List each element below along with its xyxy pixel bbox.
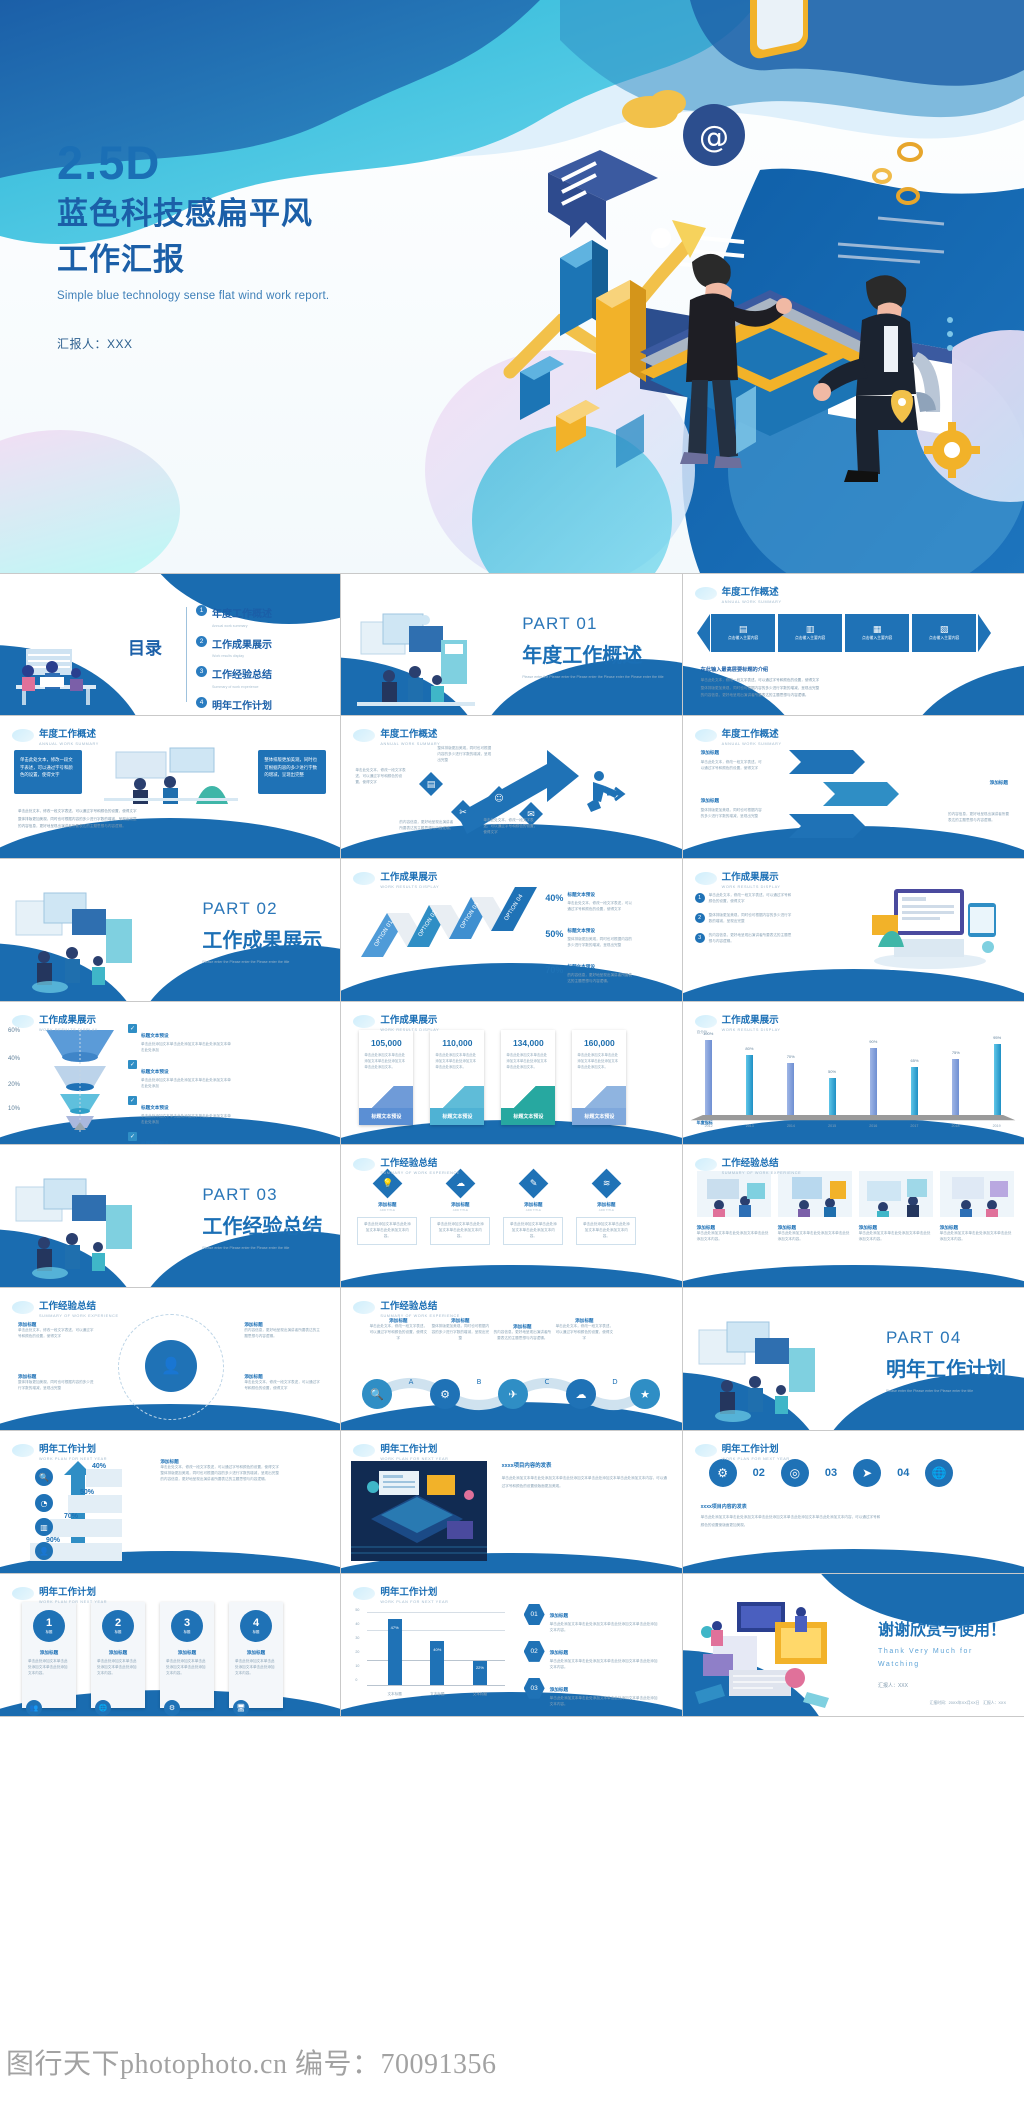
slide-title: 工作成果展示 [722, 872, 779, 883]
numbered-card-1[interactable]: 1 标题 添加标题 单击此处添加文本单击此处添加文本单击此处添加文本内容。 👥 [22, 1602, 76, 1708]
toc-number: 2 [196, 636, 207, 647]
step-heading: 添加标题 [550, 1650, 568, 1655]
note-body: 的内容信息，更好地呈现出演讲者所要表达的主题思想与内容逻辑。 [160, 1477, 326, 1483]
pyramid-pct-3: 70% [64, 1513, 78, 1520]
chevron-item-4[interactable]: ▧ 点击输入主要内容 [912, 614, 976, 652]
diamond-card-group: 💡 添加标题 ADD TITLE 单击此处添加文本单击此处添加文本单击此处添加文… [357, 1173, 636, 1245]
header-ellipse-icon [695, 1158, 717, 1171]
slide-thumb-options-arrow[interactable]: 工作成果展示 WORK RESULTS DISPLAY OPTION 01 OP… [341, 859, 682, 1002]
stat-card-4[interactable]: 160,000 单击此处添加文本单击此处添加文本单击此处添加文本单击此处添加文本… [572, 1030, 626, 1125]
stat-card-2[interactable]: 110,000 单击此处添加文本单击此处添加文本单击此处添加文本单击此处添加文本… [430, 1030, 484, 1125]
toc-number: 4 [196, 697, 207, 708]
slide-title: 工作成果展示 [380, 872, 437, 883]
option-note: 标题文本预设 [567, 964, 595, 969]
image-tile-4[interactable]: 添加标题 单击此处添加文本单击此处添加文本单击此处添加文本内容。 [940, 1171, 1014, 1243]
people-icon: ▦ [873, 625, 882, 634]
arrow-note-3: 的内容信息，更好地呈现出演讲者所要表达的主题思想与内容逻辑。 [399, 820, 455, 832]
card-number-badge: 1 标题 [33, 1610, 65, 1642]
tile-illustration [697, 1171, 771, 1217]
bar-label: 75% [952, 1050, 960, 1055]
x-tick: 文本标题 [430, 1692, 444, 1698]
overview-para-2: 整体排版更加美观，同时也可根据内容的多少进行字数的增减，呈现出完整 [18, 816, 326, 824]
slide-title: 明年工作计划 [39, 1444, 96, 1455]
svg-text:◔: ◔ [41, 1499, 48, 1508]
user-icon: 👤 [145, 1340, 197, 1392]
part-number: PART 04 [886, 1328, 1006, 1348]
part-subtitle: Please enter the Please enter the Please… [202, 960, 322, 966]
bar-chart-plot: 100% 80% 70% 50% 90% 65% 75% [705, 1034, 1001, 1116]
overview-bullets: 在此输入最高层要标题的介绍 单击此处文本，修改一段文字表述，可以通过字号和颜色的… [701, 666, 820, 700]
bar-label: 95% [993, 1035, 1001, 1040]
slide-thumb-funnel[interactable]: 工作成果展示 WORK RESULTS DISPLAY 60% 40% 20% … [0, 1002, 341, 1145]
circle-label-2: 添加标题 整体排版更加美观，同时也可根据内容的多少进行字数的增减，呈现出完整 [18, 1374, 96, 1392]
zigzag-label-2: 添加标题 [701, 798, 719, 804]
diamond-card-3[interactable]: ✎ 添加标题 ADD TITLE 单击此处添加文本单击此处添加文本单击此处添加文… [503, 1173, 563, 1245]
toc-label-en: Annual work summary [212, 624, 272, 628]
numbered-list: 1 单击此处文本，修改一段文字表述，可以通过字号和颜色的设置，使得文字 2 整体… [695, 893, 793, 945]
slide-thumb-bar-chart[interactable]: 工作成果展示 WORK RESULTS DISPLAY 100% 80% 70%… [683, 1002, 1024, 1145]
target-icon[interactable]: ◎ [781, 1459, 809, 1487]
slide-title-en: WORK RESULTS DISPLAY [39, 1028, 98, 1032]
bar-chart-xaxis: 2012 2013 2014 2015 2016 2017 2018 2019 [705, 1124, 1001, 1130]
stat-footer: 标题文本预设 [572, 1108, 626, 1125]
bullet-para-2: 整体排版更加美观，同时也可根据内容的多少进行字数的增减，呈现出完整 [701, 685, 820, 693]
slide-thumb-round-icons[interactable]: 明年工作计划 WORK PLAN FOR NEXT YEAR ⚙ 02 ◎ 03… [683, 1431, 1024, 1574]
option-note: 标题文本预设 [567, 892, 595, 897]
legend-heading: 标题文本预设 [141, 1105, 169, 1110]
tile-group: 添加标题 单击此处添加文本单击此处添加文本单击此处添加文本内容。 添加标题 单击… [697, 1171, 1014, 1243]
slide-title: 工作成果展示 [722, 1015, 779, 1026]
thankyou-illustration [689, 1596, 849, 1716]
slide-title-en: WORK RESULTS DISPLAY [380, 885, 439, 889]
chevron-item-3[interactable]: ▦ 点击输入主要内容 [845, 614, 909, 652]
svg-text:C: C [545, 1378, 550, 1386]
process-labels: 添加标题 单击此处文本，修改一段文字表述，可以通过字号和颜色的设置，使得文字 添… [369, 1318, 613, 1342]
svg-text:☺: ☺ [495, 793, 504, 804]
slide-title: 年度工作概述 [380, 729, 437, 740]
slide-title-en: WORK RESULTS DISPLAY [380, 1028, 439, 1032]
pyramid-steps-graphic: 🔍◔▥👤 [10, 1457, 130, 1565]
thankyou-presenter: 汇报人：XXX [878, 1682, 1006, 1689]
slide-title-en: SUMMARY OF WORK EXPERIENCE [39, 1314, 119, 1318]
bar-label: 40% [433, 1647, 441, 1652]
card-sub: ADD TITLE [357, 1208, 417, 1213]
legend-body: 单击此处添加文本单击此处添加文本单击此处添加文本单击此处添加 [141, 1114, 233, 1126]
header-ellipse-icon [695, 872, 717, 885]
cover-title-line1: 蓝色科技感扁平风 [57, 195, 329, 233]
slide-title-en: WORK RESULTS DISPLAY [722, 885, 781, 889]
rocket-icon[interactable]: ➤ [853, 1459, 881, 1487]
header-ellipse-icon [353, 1301, 375, 1314]
overview-para-1: 单击此处文本，修改一段文字表述，可以通过字号和颜色的设置，使得文字 [18, 808, 326, 816]
thankyou-footer: 汇报时间：20XX年XX月XX日 汇报人：XXX [930, 1701, 1006, 1706]
slide-header: 工作成果展示 WORK RESULTS DISPLAY [353, 867, 439, 889]
part-number: PART 01 [522, 614, 663, 634]
option-body: 整体排版更加美观，同时也可根据内容的多少进行字数的增减，呈现出完整 [567, 937, 633, 949]
edit-icon: ✎ [518, 1169, 548, 1199]
slide-title: 明年工作计划 [722, 1444, 779, 1455]
card-body: 单击此处添加文本单击此处添加文本单击此处添加文本内容。 [435, 1222, 485, 1240]
svg-text:⚙: ⚙ [440, 1388, 450, 1401]
bar-label: 65% [911, 1058, 919, 1063]
slide-header: 工作成果展示 WORK RESULTS DISPLAY [695, 1010, 781, 1032]
zigzag-arrows [779, 744, 909, 844]
toc-illustration [6, 639, 106, 709]
header-ellipse-icon [353, 872, 375, 885]
header-ellipse-icon [353, 1444, 375, 1457]
list-number: 3 [695, 933, 705, 943]
step-heading: 添加标题 [550, 1687, 568, 1692]
toc-divider [186, 607, 187, 702]
part-title: 年度工作概述 [522, 639, 663, 668]
overview-text: 单击此处文本，修改一段文字表述，可以通过字号和颜色的设置，使得文字 整体排版更加… [18, 808, 326, 831]
diamond-card-4[interactable]: ≋ 添加标题 ADD TITLE 单击此处添加文本单击此处添加文本单击此处添加文… [576, 1173, 636, 1245]
numbered-card-group: 1 标题 添加标题 单击此处添加文本单击此处添加文本单击此处添加文本内容。 👥 … [22, 1602, 283, 1708]
panel-body: 单击此处添加文本单击此处添加文本单击此处添加文本单击此处添加文本单击此处添加文本… [502, 1474, 670, 1491]
cover-presenter: 汇报人：XXX [57, 335, 329, 352]
wifi-icon: ≋ [591, 1169, 621, 1199]
stat-footer: 标题文本预设 [359, 1108, 413, 1125]
card-number: 3 [184, 1618, 190, 1629]
bar-label: 70% [787, 1054, 795, 1059]
numbered-card-4[interactable]: 4 标题 添加标题 单击此处添加文本单击此处添加文本单击此处添加文本内容。 🖥 [229, 1602, 283, 1708]
slide-title: 工作经验总结 [39, 1301, 96, 1312]
slide-header: 明年工作计划 WORK PLAN FOR NEXT YEAR [353, 1582, 448, 1604]
slide-header: 明年工作计划 WORK PLAN FOR NEXT YEAR [12, 1582, 107, 1604]
slide-title-en: ANNUAL WORK SUMMARY [380, 742, 440, 746]
card-body: 单击此处添加文本单击此处添加文本单击此处添加文本内容。 [22, 1656, 76, 1680]
options-percent-column: 40% 标题文本预设 单击此处文本，修改一段文字表述，可以通过字号和颜色的设置，… [545, 883, 633, 1002]
bar-label: 22% [476, 1665, 484, 1670]
option-body: 的内容信息，更好地呈现出演讲者所要表达的主题思想与内容逻辑。 [567, 973, 633, 985]
check-icon: ✓ [128, 1060, 137, 1069]
options-ribbon: OPTION 01 OPTION 02 OPTION 03 OPTION 04 [351, 883, 541, 991]
round-label-02: 03 [825, 1467, 837, 1479]
chevron-group: ▤ 点击输入主要内容 ▥ 点击输入主要内容 ▦ 点击输入主要内容 ▧ 点击输入主… [697, 614, 991, 652]
slide-thumb-part-02[interactable]: PART 02 工作成果展示 Please enter the Please e… [0, 859, 341, 1002]
slide-title-en: WORK PLAN FOR NEXT YEAR [380, 1600, 448, 1604]
slide-thumb-part-03[interactable]: PART 03 工作经验总结 Please enter the Please e… [0, 1145, 341, 1288]
arrow-note-2: 整体排版更加美观，同时也可根据内容的多少进行字数的增减，呈现出完整 [437, 746, 493, 764]
plan-step-list: 01 添加标题 单击此处添加文本单击此处添加文本单击此处添加文本单击此处添加文本… [524, 1604, 670, 1708]
slide-title-en: SUMMARY OF WORK EXPERIENCE [380, 1314, 460, 1318]
cover-text-block: 2.5D 蓝色科技感扁平风 工作汇报 Simple blue technolog… [57, 138, 329, 352]
step-body: 单击此处文本，修改一段文字表述，可以通过字号和颜色的设置，使得文字 [555, 1324, 613, 1342]
x-tick: 2016 [869, 1124, 877, 1130]
slide-header: 明年工作计划 WORK PLAN FOR NEXT YEAR [695, 1439, 790, 1461]
x-tick: 2015 [828, 1124, 836, 1130]
stat-body: 单击此处添加文本单击此处添加文本单击此处添加文本单击此处添加文本。 [359, 1048, 413, 1071]
slide-title-en: WORK PLAN FOR NEXT YEAR [722, 1457, 790, 1461]
funnel-chart [40, 1026, 120, 1136]
grid-row-1: 目录 1 年度工作概述 Annual work summary 2 工作成果展示… [0, 573, 1024, 716]
slide-header: 明年工作计划 WORK PLAN FOR NEXT YEAR [353, 1439, 448, 1461]
numbered-card-3[interactable]: 3 标题 添加标题 单击此处添加文本单击此处添加文本单击此处添加文本内容。 ⚙ [160, 1602, 214, 1708]
slide-thumb-process-chain[interactable]: 工作经验总结 SUMMARY OF WORK EXPERIENCE 添加标题 单… [341, 1288, 682, 1431]
gear-icon[interactable]: ⚙ [709, 1459, 737, 1487]
part-03-illustration [10, 1177, 140, 1281]
step-heading: 添加标题 [550, 1613, 568, 1618]
x-axis-label: 年度指标 [697, 1120, 713, 1126]
toc-item-2[interactable]: 2 工作成果展示 Work results display [196, 635, 272, 659]
card-number-badge: 3 标题 [171, 1610, 203, 1642]
round-label-01: 02 [753, 1467, 765, 1479]
percent-value: 70% [545, 965, 563, 975]
process-chain-graphic: 🔍 ⚙ ✈ ☁ ★ ABCD [353, 1372, 671, 1418]
chevron-label: 点击输入主要内容 [795, 636, 825, 641]
card-subnum: 标题 [253, 1629, 260, 1634]
slide-title: 明年工作计划 [380, 1587, 437, 1598]
stat-value: 110,000 [430, 1038, 484, 1048]
gear-icon: ⚙ [164, 1700, 180, 1716]
chevron-item-2[interactable]: ▥ 点击输入主要内容 [778, 614, 842, 652]
grid-row-2: 年度工作概述 ANNUAL WORK SUMMARY 单击此处文本，修改一段文字… [0, 716, 1024, 859]
grid-row-6: 工作经验总结 SUMMARY OF WORK EXPERIENCE 👤 添加标题… [0, 1288, 1024, 1431]
note-heading: xxxx项目内容的发表 [701, 1503, 881, 1510]
slide-header: 工作经验总结 SUMMARY OF WORK EXPERIENCE [353, 1296, 460, 1318]
header-ellipse-icon [12, 1015, 34, 1028]
grid-row-5: PART 03 工作经验总结 Please enter the Please e… [0, 1145, 1024, 1288]
label-body: 整体排版更加美观，同时也可根据内容的多少进行字数的增减，呈现出完整 [18, 1380, 96, 1392]
slide-title: 工作经验总结 [380, 1301, 437, 1312]
card-number: 2 [115, 1618, 121, 1629]
x-tick: 2019 [993, 1124, 1001, 1130]
slide-thumb-part-01[interactable]: PART 01 年度工作概述 Please enter the Please e… [341, 573, 682, 716]
x-tick: 文本标题 [473, 1692, 487, 1698]
list-item: 整体排版更加美观，同时也可根据内容的多少进行字数的增减，呈现出完整 [709, 913, 793, 925]
slide-header: 工作经验总结 SUMMARY OF WORK EXPERIENCE [353, 1153, 460, 1175]
check-icon: ✓ [128, 1132, 137, 1141]
cover-badge: 2.5D [57, 138, 329, 187]
slide-title-en: ANNUAL WORK SUMMARY [722, 742, 782, 746]
header-ellipse-icon [12, 1301, 34, 1314]
slide-title: 明年工作计划 [39, 1587, 96, 1598]
toc-number: 3 [196, 666, 207, 677]
chevron-label: 点击输入主要内容 [862, 636, 892, 641]
x-tick: 文本标题 [387, 1692, 401, 1698]
card-number: 4 [253, 1618, 259, 1629]
step-body: 单击此处添加文本单击此处添加文本单击此处添加文本单击此处添加文本内容。 [550, 1659, 658, 1671]
card-number: 1 [46, 1618, 52, 1629]
label-body: 单击此处文本，修改一段文字表述，可以通过字号和颜色的设置，使得文字 [18, 1328, 96, 1340]
slide-title: 工作成果展示 [380, 1015, 437, 1026]
step-body: 单击此处添加文本单击此处添加文本单击此处添加文本单击此处添加文本内容。 [550, 1622, 658, 1634]
svg-text:👤: 👤 [39, 1546, 49, 1556]
slide-thumb-toc[interactable]: 目录 1 年度工作概述 Annual work summary 2 工作成果展示… [0, 573, 341, 716]
slide-thumb-numbered-list[interactable]: 工作成果展示 WORK RESULTS DISPLAY 1 单击此处文本，修改一… [683, 859, 1024, 1002]
slide-title-en: WORK RESULTS DISPLAY [722, 1028, 781, 1032]
round-icon-notes: xxxx项目内容的发表 单击此处添加文本单击此处添加文本单击此处添加文本单击此处… [701, 1503, 881, 1530]
header-ellipse-icon [695, 587, 717, 600]
bar-label: 80% [745, 1046, 753, 1051]
globe-icon[interactable]: 🌐 [925, 1459, 953, 1487]
slide-title: 工作经验总结 [722, 1158, 779, 1169]
svg-text:✂: ✂ [460, 808, 468, 818]
funnel-percent-axis: 60% 40% 20% 10% [8, 1028, 20, 1112]
pyramid-notes: 添加标题 单击此处文本，修改一段文字表述，可以通过字号和颜色的设置，使得文字 整… [160, 1459, 326, 1483]
zigzag-body-2: 整体排版更加美观，同时也可根据内容的多少进行字数的增减，呈现出完整 [701, 808, 763, 820]
grid-row-8: 明年工作计划 WORK PLAN FOR NEXT YEAR 1 标题 添加标题… [0, 1574, 1024, 1717]
bullet-para-1: 单击此处文本，修改一段文字表述，可以通过字号和颜色的设置，使得文字 [701, 677, 820, 685]
file-icon: ▧ [940, 625, 949, 634]
toc-label-en: Summary of work experience [212, 685, 272, 689]
legend-body: 单击此处添加文本单击此处添加文本单击此处添加文本单击此处添加 [141, 1042, 233, 1054]
slide-title: 年度工作概述 [39, 729, 96, 740]
svg-text:▥: ▥ [40, 1523, 48, 1532]
circle-label-4: 添加标题 单击此处文本，修改一段文字表述，可以通过字号和颜色的设置，使得文字 [244, 1374, 322, 1392]
slide-thumb-thank-you[interactable]: 谢谢欣赏与使用！ Thank Very Much for Watching 汇报… [683, 1574, 1024, 1717]
circle-label-3: 添加标题 的内容信息，更好地呈现出演讲者所要表达的主题思想与内容逻辑。 [244, 1322, 322, 1340]
part-subtitle: Please enter the Please enter the Please… [886, 1389, 1006, 1395]
slide-thumb-numbered-cards[interactable]: 明年工作计划 WORK PLAN FOR NEXT YEAR 1 标题 添加标题… [0, 1574, 341, 1717]
slide-thumb-part-04[interactable]: PART 04 明年工作计划 Please enter the Please e… [683, 1288, 1024, 1431]
slide-thumb-dark-panel[interactable]: 明年工作计划 WORK PLAN FOR NEXT YEAR xxxx项目内容的… [341, 1431, 682, 1574]
monitor-icon: 🖥 [233, 1700, 249, 1716]
card-sub: ADD TITLE [576, 1208, 636, 1213]
percent-value: 40% [545, 893, 563, 903]
svg-text:★: ★ [640, 1388, 650, 1401]
list-item: 的内容信息，更好地呈现出演讲者所要表达的主题思想与内容逻辑。 [709, 933, 793, 945]
chevron-left-cap [697, 614, 710, 652]
slide-header: 年度工作概述 ANNUAL WORK SUMMARY [12, 724, 99, 746]
slide-title: 年度工作概述 [722, 587, 779, 598]
panel-title: xxxx项目内容的发表 [502, 1461, 670, 1469]
card-body: 单击此处添加文本单击此处添加文本单击此处添加文本内容。 [160, 1656, 214, 1680]
image-tile-3[interactable]: 添加标题 单击此处添加文本单击此处添加文本单击此处添加文本内容。 [859, 1171, 933, 1243]
slide-thumb-plan-chart[interactable]: 明年工作计划 WORK PLAN FOR NEXT YEAR 47% 40% 2… [341, 1574, 682, 1717]
card-sub: ADD TITLE [503, 1208, 563, 1213]
slide-thumb-pyramid-steps[interactable]: 明年工作计划 WORK PLAN FOR NEXT YEAR 🔍◔▥👤 40% … [0, 1431, 341, 1574]
svg-text:▤: ▤ [427, 780, 436, 790]
overview-illustration [96, 746, 246, 804]
image-tile-1[interactable]: 添加标题 单击此处添加文本单击此处添加文本单击此处添加文本内容。 [697, 1171, 771, 1243]
card-number-badge: 2 标题 [102, 1610, 134, 1642]
x-tick: 2018 [952, 1124, 960, 1130]
stat-card-1[interactable]: 105,000 单击此处添加文本单击此处添加文本单击此处添加文本单击此处添加文本… [359, 1030, 413, 1125]
note-body: 单击此处添加文本单击此处添加文本单击此处添加文本单击此处添加文本单击此处添加文本… [701, 1514, 881, 1530]
chevron-item-1[interactable]: ▤ 点击输入主要内容 [711, 614, 775, 652]
slide-thumb-overview-chevrons[interactable]: 年度工作概述 ANNUAL WORK SUMMARY ▤ 点击输入主要内容 ▥ … [683, 573, 1024, 716]
bullet-heading: 在此输入最高层要标题的介绍 [701, 666, 820, 673]
svg-text:🔍: 🔍 [370, 1387, 384, 1401]
slide-title: 工作成果展示 [39, 1015, 96, 1026]
globe-icon: 🌐 [95, 1700, 111, 1716]
info-box-right[interactable]: 整体排版更加美观，同时也可根据内容的多少进行字数的增减，呈现出完整 [258, 750, 326, 794]
card-body: 单击此处添加文本单击此处添加文本单击此处添加文本内容。 [229, 1656, 283, 1680]
header-ellipse-icon [353, 1015, 375, 1028]
pyramid-pct-4: 90% [46, 1537, 60, 1544]
slide-title: 年度工作概述 [722, 729, 779, 740]
numbered-card-2[interactable]: 2 标题 添加标题 单击此处添加文本单击此处添加文本单击此处添加文本内容。 🌐 [91, 1602, 145, 1708]
tile-body: 单击此处添加文本单击此处添加文本单击此处添加文本内容。 [778, 1231, 850, 1243]
slide-thumb-image-tiles[interactable]: 工作经验总结 SUMMARY OF WORK EXPERIENCE 添加标题 单… [683, 1145, 1024, 1288]
cover-slide: @ [0, 0, 1024, 573]
list-number: 1 [695, 893, 705, 903]
part-02-illustration [10, 891, 140, 995]
chart-icon: ▥ [806, 625, 815, 634]
grid-row-7: 明年工作计划 WORK PLAN FOR NEXT YEAR 🔍◔▥👤 40% … [0, 1431, 1024, 1574]
funnel-legend: ✓ 标题文本预设 单击此处添加文本单击此处添加文本单击此处添加文本单击此处添加 … [128, 1024, 233, 1145]
arrow-note-4: 单击此处文本，修改一段文字表述，可以通过字号和颜色的设置，使得文字 [483, 818, 539, 836]
slide-title: 明年工作计划 [380, 1444, 437, 1455]
info-box-left[interactable]: 单击此处文本，修改一段文字表述，可以通过字号和颜色的设置，使得文字 [14, 750, 82, 794]
part-number: PART 02 [202, 899, 322, 919]
diamond-card-1[interactable]: 💡 添加标题 ADD TITLE 单击此处添加文本单击此处添加文本单击此处添加文… [357, 1173, 417, 1245]
toc-item-3[interactable]: 3 工作经验总结 Summary of work experience [196, 665, 272, 689]
slide-thumb-overview-two-boxes[interactable]: 年度工作概述 ANNUAL WORK SUMMARY 单击此处文本，修改一段文字… [0, 716, 341, 859]
toc-item-1[interactable]: 1 年度工作概述 Annual work summary [196, 604, 272, 628]
slide-thumbnail-grid: 目录 1 年度工作概述 Annual work summary 2 工作成果展示… [0, 573, 1024, 1717]
part-02-text: PART 02 工作成果展示 Please enter the Please e… [202, 899, 322, 966]
tile-body: 单击此处添加文本单击此处添加文本单击此处添加文本内容。 [697, 1231, 769, 1243]
diamond-card-2[interactable]: ☁ 添加标题 ADD TITLE 单击此处添加文本单击此处添加文本单击此处添加文… [430, 1173, 490, 1245]
slide-thumb-stat-cards[interactable]: 工作成果展示 WORK RESULTS DISPLAY 105,000 单击此处… [341, 1002, 682, 1145]
card-sub: ADD TITLE [430, 1208, 490, 1213]
funnel-pct-3: 20% [8, 1082, 20, 1088]
stat-footer: 标题文本预设 [501, 1108, 555, 1125]
label-body: 单击此处文本，修改一段文字表述，可以通过字号和颜色的设置，使得文字 [244, 1380, 322, 1392]
slide-header: 工作成果展示 WORK RESULTS DISPLAY [353, 1010, 439, 1032]
cover-subtitle: Simple blue technology sense flat wind w… [57, 290, 329, 302]
stat-value: 160,000 [572, 1038, 626, 1048]
header-ellipse-icon [12, 1587, 34, 1600]
zigzag-label-1: 添加标题 [701, 750, 719, 756]
image-tile-2[interactable]: 添加标题 单击此处添加文本单击此处添加文本单击此处添加文本内容。 [778, 1171, 852, 1243]
toc-item-4[interactable]: 4 明年工作计划 Work plan for next year [196, 696, 272, 717]
stat-value: 105,000 [359, 1038, 413, 1048]
stat-card-group: 105,000 单击此处添加文本单击此处添加文本单击此处添加文本单击此处添加文本… [359, 1030, 626, 1125]
part-subtitle: Please enter the Please enter the Please… [522, 675, 663, 681]
toc-label: 工作经验总结 [212, 670, 272, 681]
header-ellipse-icon [695, 1444, 717, 1457]
list-item: 单击此处文本，修改一段文字表述，可以通过字号和颜色的设置，使得文字 [709, 893, 793, 905]
slide-thumb-diamond-cards[interactable]: 工作经验总结 SUMMARY OF WORK EXPERIENCE 💡 添加标题… [341, 1145, 682, 1288]
tile-illustration [940, 1171, 1014, 1217]
slide-title-en: SUMMARY OF WORK EXPERIENCE [722, 1171, 802, 1175]
slide-thumb-overview-arrow-icons[interactable]: 年度工作概述 ANNUAL WORK SUMMARY ▤✂ ☺✉ [341, 716, 682, 859]
round-icon-row: ⚙ 02 ◎ 03 ➤ 04 🌐 [709, 1459, 954, 1487]
slide-thumb-overview-zigzag[interactable]: 年度工作概述 ANNUAL WORK SUMMARY 添加标题 单击此处文本，修… [683, 716, 1024, 859]
step-badge: 01 [524, 1604, 545, 1625]
card-subnum: 标题 [46, 1629, 53, 1634]
tile-body: 单击此处添加文本单击此处添加文本单击此处添加文本内容。 [940, 1231, 1012, 1243]
bullet-para-3: 的内容信息，更好地呈现出演讲者所要表达的主题思想与内容逻辑。 [701, 692, 820, 700]
svg-text:D: D [613, 1378, 618, 1386]
cover-title-line2: 工作汇报 [57, 241, 329, 279]
round-label-03: 04 [897, 1467, 909, 1479]
card-subnum: 标题 [115, 1629, 122, 1634]
slide-header: 工作成果展示 WORK RESULTS DISPLAY [12, 1010, 98, 1032]
slide-thumb-circle-layout[interactable]: 工作经验总结 SUMMARY OF WORK EXPERIENCE 👤 添加标题… [0, 1288, 341, 1431]
card-body: 单击此处添加文本单击此处添加文本单击此处添加文本内容。 [581, 1222, 631, 1240]
part-01-illustration [353, 610, 481, 714]
svg-text:✈: ✈ [509, 1388, 518, 1401]
x-tick: 2017 [910, 1124, 918, 1130]
label-body: 的内容信息，更好地呈现出演讲者所要表达的主题思想与内容逻辑。 [244, 1328, 322, 1340]
option-note: 标题文本预设 [567, 928, 595, 933]
slide-header: 年度工作概述 ANNUAL WORK SUMMARY [695, 724, 782, 746]
slide-title-en: WORK PLAN FOR NEXT YEAR [380, 1457, 448, 1461]
part-title: 工作经验总结 [202, 1210, 322, 1239]
thankyou-en-line2: Watching [878, 1658, 1006, 1671]
header-ellipse-icon [353, 1158, 375, 1171]
legend-body: 单击此处添加文本单击此处添加文本单击此处添加文本单击此处添加 [141, 1078, 233, 1090]
stat-card-3[interactable]: 134,000 单击此处添加文本单击此处添加文本单击此处添加文本单击此处添加文本… [501, 1030, 555, 1125]
card-body: 单击此处添加文本单击此处添加文本单击此处添加文本内容。 [91, 1656, 145, 1680]
part-number: PART 03 [202, 1185, 322, 1205]
svg-text:B: B [477, 1378, 482, 1386]
step-body: 单击此处添加文本单击此处添加文本单击此处添加文本单击此处添加文本内容。 [550, 1696, 658, 1708]
